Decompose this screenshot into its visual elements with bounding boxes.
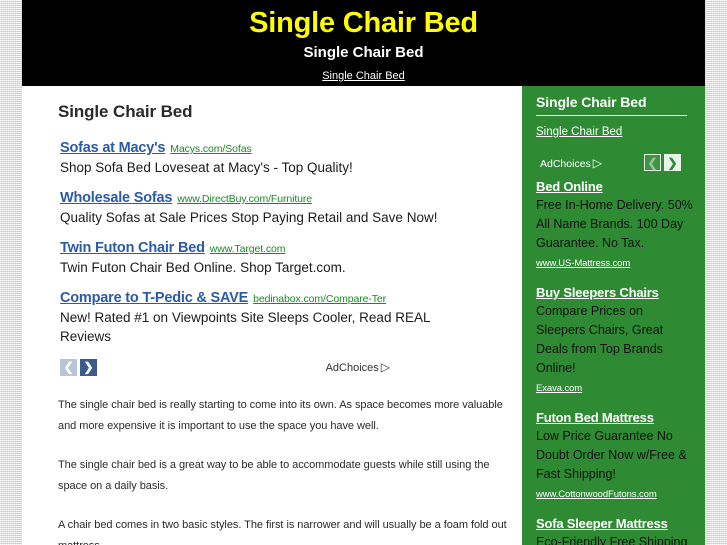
sidebar-prev-arrow-icon[interactable]: ❮	[644, 154, 661, 171]
article-paragraph: A chair bed comes in two basic styles. T…	[58, 515, 520, 545]
sidebar-adchoices-label: AdChoices	[540, 158, 591, 170]
main-ad-block: Sofas at Macy'sMacys.com/Sofas Shop Sofa…	[60, 140, 500, 346]
content-columns: Single Chair Bed Sofas at Macy'sMacys.co…	[22, 86, 705, 545]
article-paragraph: The single chair bed is really starting …	[58, 395, 520, 437]
page-wrapper: Single Chair Bed Single Chair Bed Single…	[22, 0, 705, 545]
site-masthead: Single Chair Bed Single Chair Bed Single…	[22, 0, 705, 86]
article-body: The single chair bed is really starting …	[58, 395, 520, 545]
sidebar-ad-description: Eco-Friendly Free Shipping 120 Day	[536, 533, 695, 545]
ad-description: Shop Sofa Bed Loveseat at Macy's - Top Q…	[60, 158, 455, 177]
sidebar-ad-unit: Bed Online Free In-Home Delivery. 50% Al…	[536, 178, 695, 271]
sidebar-ad-unit: Futon Bed Mattress Low Price Guarantee N…	[536, 409, 695, 502]
ad-description: New! Rated #1 on Viewpoints Site Sleeps …	[60, 308, 455, 346]
ad-title-link[interactable]: Sofas at Macy's	[60, 140, 165, 156]
ad-url-link[interactable]: bedinabox.com/Compare-Ter	[253, 293, 386, 305]
ad-title-link[interactable]: Compare to T-Pedic & SAVE	[60, 290, 248, 306]
sidebar-adchoices-button[interactable]: AdChoices▷	[540, 156, 602, 170]
ad-title-link[interactable]: Twin Futon Chair Bed	[60, 240, 205, 256]
sidebar-ad-description: Compare Prices on Sleepers Chairs, Great…	[536, 302, 695, 378]
ad-url-link[interactable]: www.DirectBuy.com/Furniture	[177, 193, 312, 205]
masthead-link[interactable]: Single Chair Bed	[322, 70, 405, 82]
ad-header-row: Sofas at Macy'sMacys.com/Sofas	[60, 140, 500, 157]
ad-header-row: Wholesale Sofaswww.DirectBuy.com/Furnitu…	[60, 190, 500, 207]
sidebar-ad-url-link[interactable]: www.US-Mattress.com	[536, 258, 630, 269]
ad-description: Quality Sofas at Sale Prices Stop Paying…	[60, 208, 455, 227]
sidebar-adchoices-triangle-icon: ▷	[593, 156, 602, 170]
next-arrow-icon[interactable]: ❯	[80, 359, 97, 376]
sidebar-ad-description: Free In-Home Delivery. 50% All Name Bran…	[536, 196, 695, 253]
sidebar-ad-description: Low Price Guarantee No Doubt Order Now w…	[536, 427, 695, 484]
adchoices-triangle-icon: ▷	[381, 360, 390, 374]
adchoices-button[interactable]: AdChoices▷	[326, 360, 390, 374]
ad-url-link[interactable]: Macys.com/Sofas	[170, 143, 251, 155]
ad-title-link[interactable]: Wholesale Sofas	[60, 190, 172, 206]
main-content-column: Single Chair Bed Sofas at Macy'sMacys.co…	[22, 86, 522, 545]
sidebar-ad-title-link[interactable]: Sofa Sleeper Mattress	[536, 515, 695, 532]
sidebar-ad-url-link[interactable]: www.CottonwoodFutons.com	[536, 489, 657, 500]
ad-unit: Compare to T-Pedic & SAVEbedinabox.com/C…	[60, 290, 500, 346]
page-title: Single Chair Bed	[58, 102, 510, 122]
sidebar-ad-controls: AdChoices▷ ❮❯	[536, 154, 695, 174]
ad-url-link[interactable]: www.Target.com	[210, 243, 286, 255]
sidebar-ad-unit: Buy Sleepers Chairs Compare Prices on Sl…	[536, 284, 695, 396]
ad-header-row: Compare to T-Pedic & SAVEbedinabox.com/C…	[60, 290, 500, 307]
prev-arrow-icon[interactable]: ❮	[60, 359, 77, 376]
sidebar-link[interactable]: Single Chair Bed	[536, 126, 622, 138]
sidebar-ad-title-link[interactable]: Bed Online	[536, 178, 695, 195]
adchoices-label: AdChoices	[326, 362, 379, 374]
ad-header-row: Twin Futon Chair Bedwww.Target.com	[60, 240, 500, 257]
sidebar-divider	[536, 115, 687, 116]
sidebar-arrow-group: ❮❯	[644, 154, 684, 172]
sidebar-title: Single Chair Bed	[536, 94, 695, 110]
sidebar-ad-title-link[interactable]: Buy Sleepers Chairs	[536, 284, 695, 301]
ad-unit: Twin Futon Chair Bedwww.Target.com Twin …	[60, 240, 500, 277]
site-subtitle: Single Chair Bed	[22, 43, 705, 63]
sidebar-next-arrow-icon[interactable]: ❯	[664, 154, 681, 171]
main-ad-footer: ❮❯ AdChoices▷	[60, 359, 500, 381]
ad-unit: Wholesale Sofaswww.DirectBuy.com/Furnitu…	[60, 190, 500, 227]
ad-unit: Sofas at Macy'sMacys.com/Sofas Shop Sofa…	[60, 140, 500, 177]
site-title: Single Chair Bed	[22, 6, 705, 40]
sidebar-ad-title-link[interactable]: Futon Bed Mattress	[536, 409, 695, 426]
ad-description: Twin Futon Chair Bed Online. Shop Target…	[60, 258, 455, 277]
sidebar: Single Chair Bed Single Chair Bed AdChoi…	[522, 86, 705, 545]
sidebar-ad-url-link[interactable]: Exava.com	[536, 383, 582, 394]
article-paragraph: The single chair bed is a great way to b…	[58, 455, 520, 497]
sidebar-ad-unit: Sofa Sleeper Mattress Eco-Friendly Free …	[536, 515, 695, 545]
